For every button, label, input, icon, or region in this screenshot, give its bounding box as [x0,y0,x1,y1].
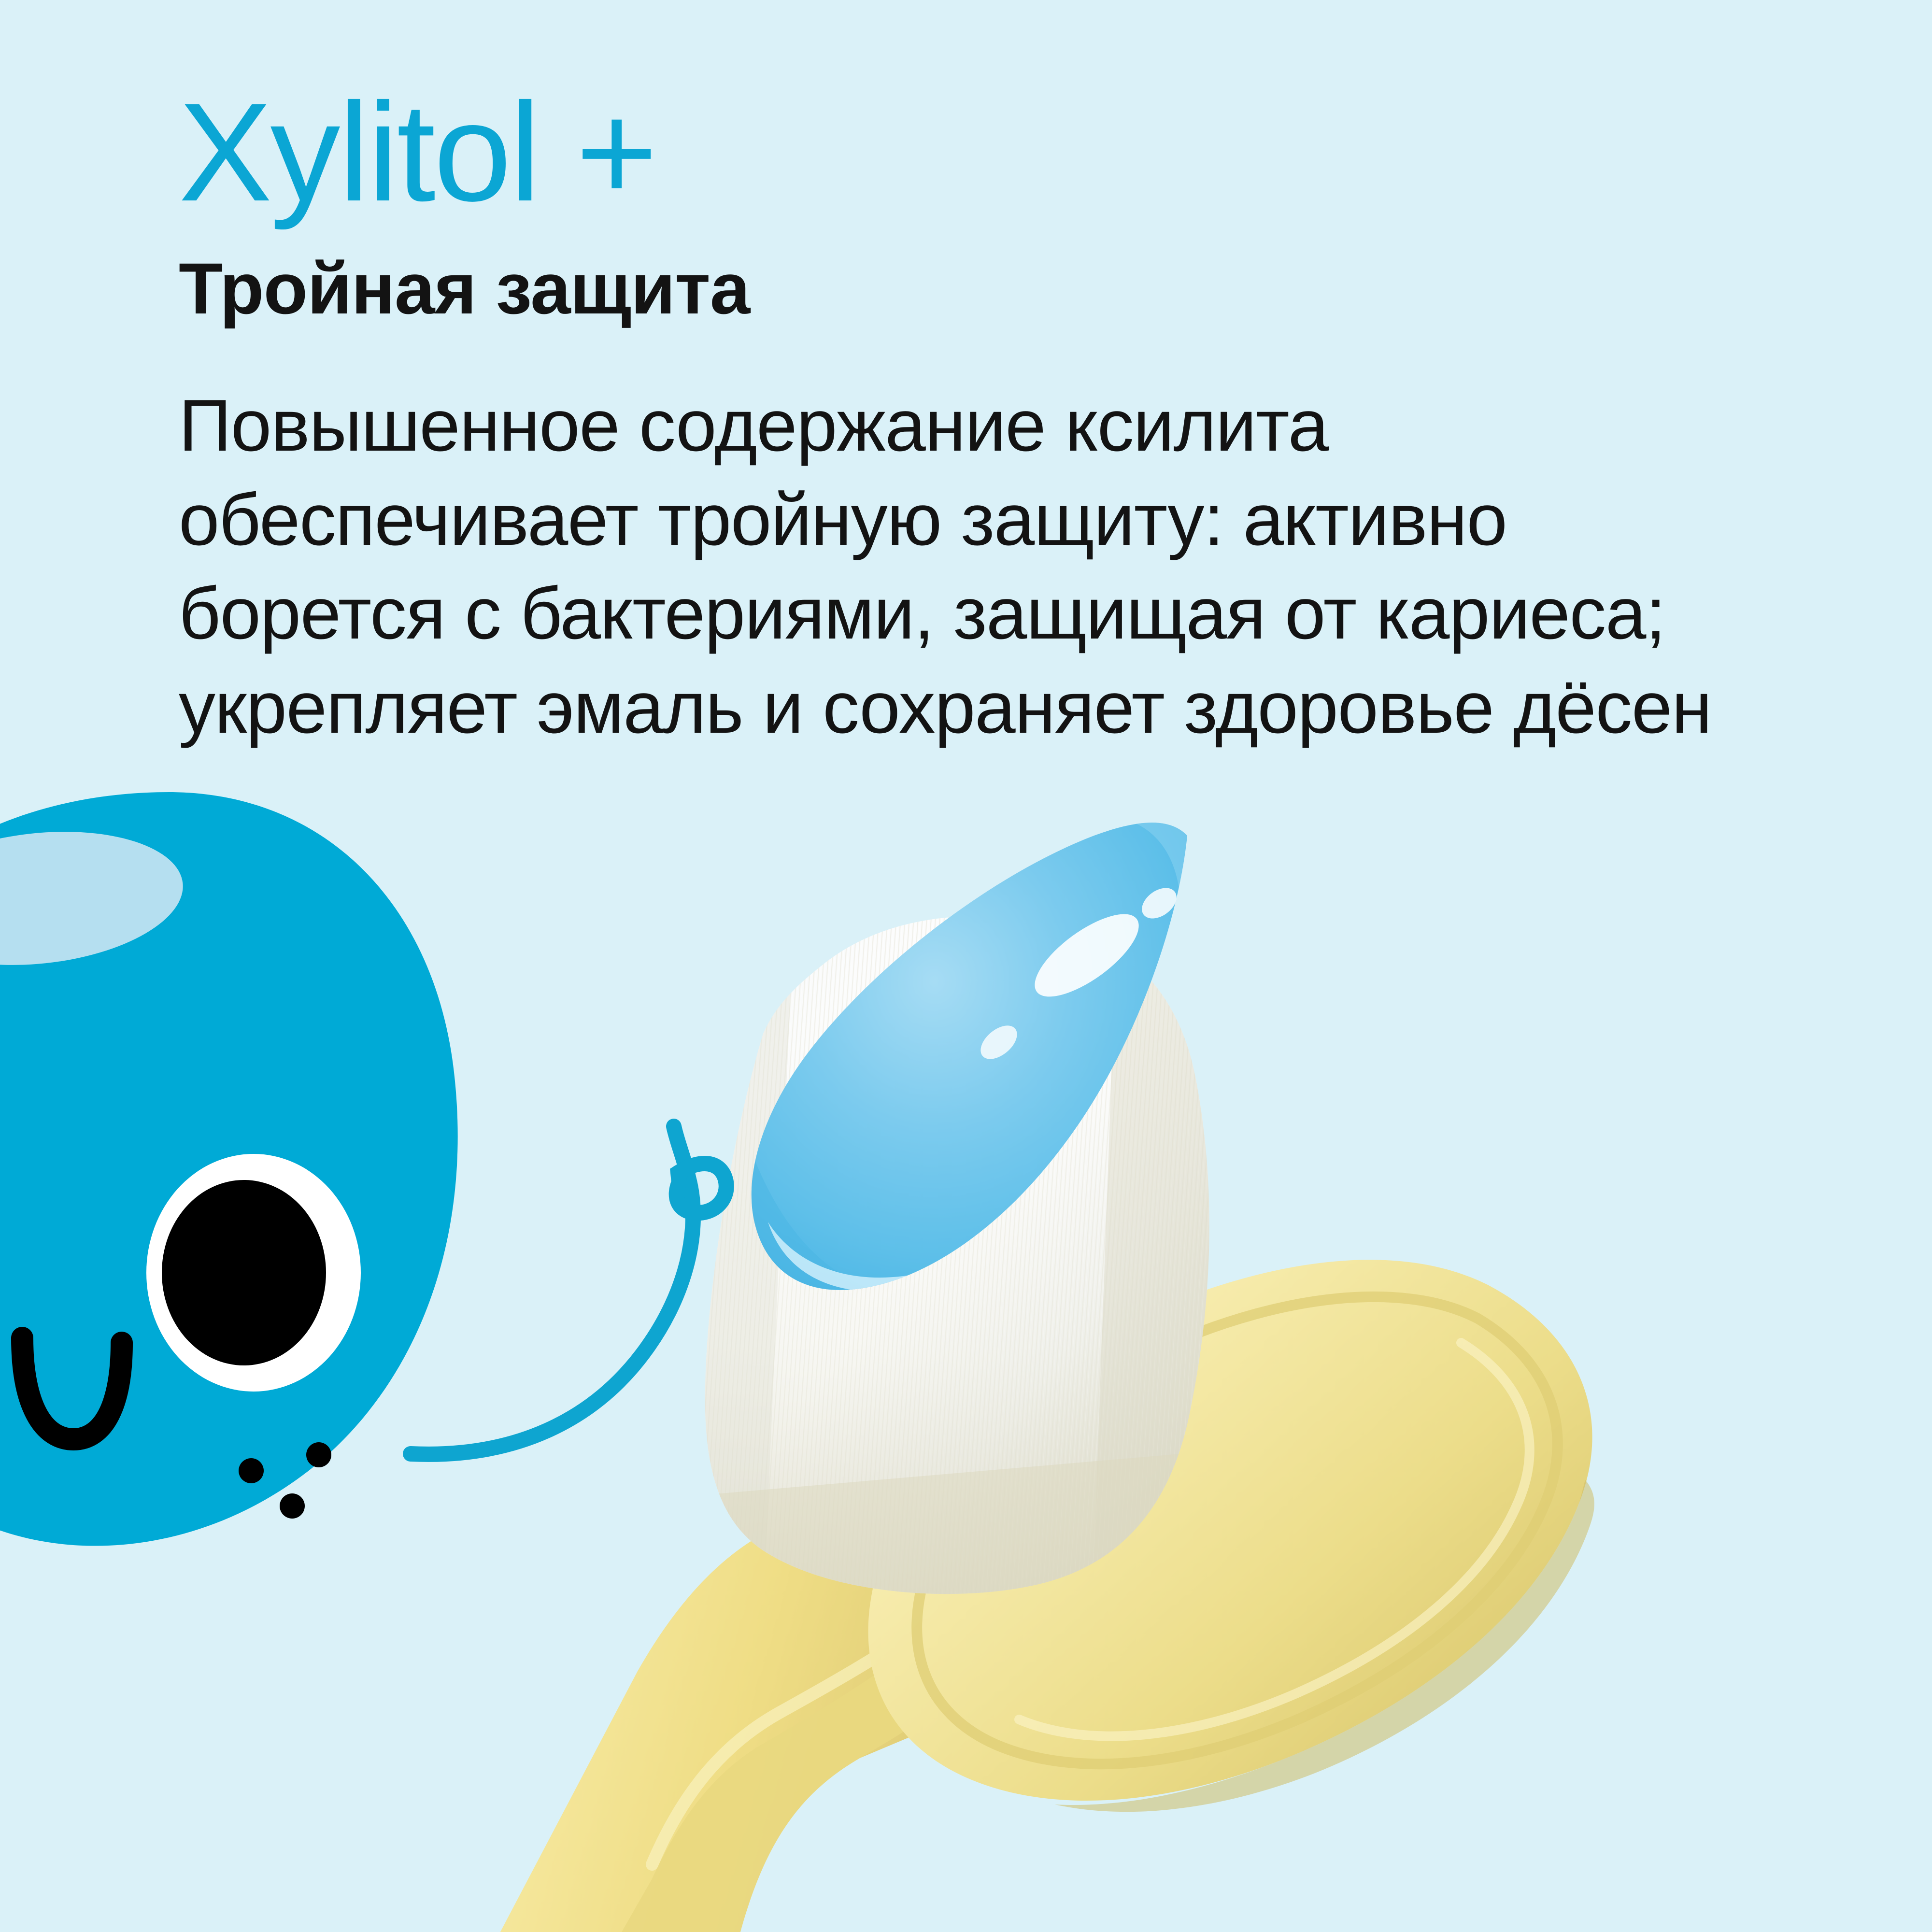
product-feature-poster: Xylitol + Тройная защита Повышенное соде… [0,0,1932,1932]
page-title: Xylitol + [179,82,1821,222]
mascot-right-eye [146,1154,361,1392]
body-line: обеспечивает тройную защиту: активно [179,473,1821,567]
body-line: борется с бактериями, защищая от кариеса… [179,567,1821,661]
mascot-illustration [0,782,778,1594]
body-line: Повышенное содержание ксилита [179,379,1821,473]
mascot-pointing-arm [411,1126,726,1454]
body-line: укрепляет эмаль и сохраняет здоровье дёс… [179,661,1821,755]
page-subtitle: Тройная защита [179,252,1821,325]
copy-block: Xylitol + Тройная защита Повышенное соде… [179,82,1821,754]
mascot-hand-loop [677,1164,726,1213]
body-copy: Повышенное содержание ксилита обеспечива… [179,379,1821,754]
